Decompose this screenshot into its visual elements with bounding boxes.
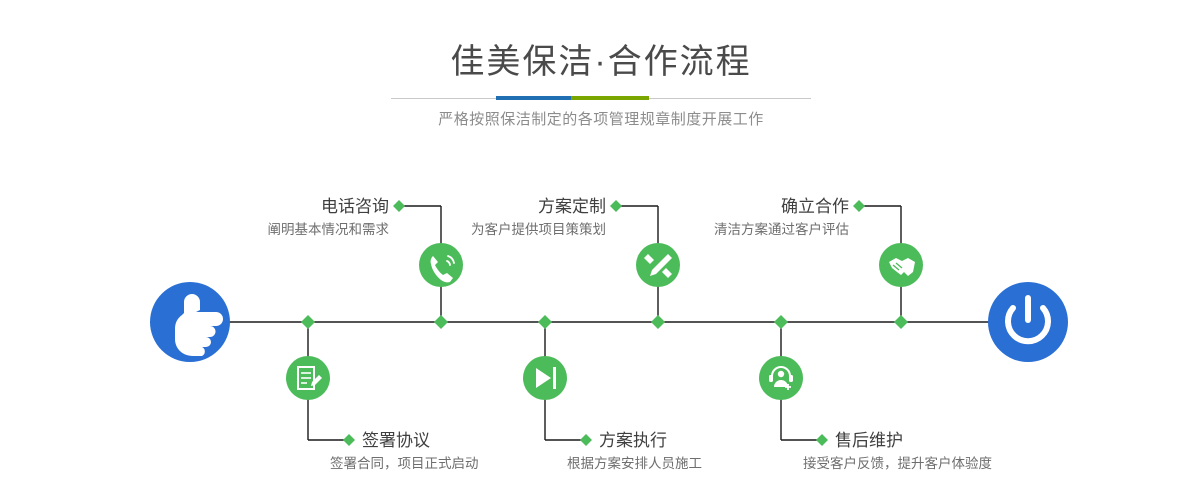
step-desc-2: 签署合同，项目正式启动: [330, 455, 479, 471]
divider-segment-green: [571, 96, 649, 100]
label-step-1: 电话咨询 阐明基本情况和需求: [268, 197, 390, 237]
node-step-6[interactable]: [759, 356, 803, 400]
step-title-3: 方案定制: [538, 197, 606, 216]
diamond-marker-step-5: [894, 315, 908, 329]
step-title-2: 签署协议: [362, 431, 430, 450]
start-endpoint[interactable]: [150, 282, 230, 362]
node-circle-step-1: [419, 243, 463, 287]
step-title-1: 电话咨询: [321, 197, 389, 216]
node-step-3[interactable]: [636, 243, 680, 287]
label-diamond-step-3: [610, 200, 622, 212]
divider-segment-blue: [496, 96, 571, 100]
label-diamond-step-5: [853, 200, 865, 212]
node-step-1[interactable]: [419, 243, 463, 287]
node-step-2[interactable]: [286, 356, 330, 400]
step-desc-1: 阐明基本情况和需求: [268, 221, 390, 237]
node-step-5[interactable]: [879, 243, 923, 287]
step-desc-3: 为客户提供项目策策划: [471, 221, 606, 237]
title-divider: [391, 96, 811, 100]
step-desc-6: 接受客户反馈，提升客户体验度: [803, 455, 992, 471]
label-step-3: 方案定制 为客户提供项目策策划: [471, 197, 606, 237]
label-diamond-step-2: [343, 434, 355, 446]
label-step-6: 售后维护 接受客户反馈，提升客户体验度: [803, 431, 992, 471]
flow-diagram-page: 佳美保洁·合作流程 严格按照保洁制定的各项管理规章制度开展工作: [0, 0, 1202, 502]
label-diamond-step-4: [580, 434, 592, 446]
end-endpoint[interactable]: [988, 282, 1068, 362]
node-step-4[interactable]: [523, 356, 567, 400]
label-step-2: 签署协议 签署合同，项目正式启动: [330, 431, 479, 471]
step-title-4: 方案执行: [599, 431, 667, 450]
diamond-marker-step-2: [301, 315, 315, 329]
node-circle-step-6: [759, 356, 803, 400]
step-desc-5: 清洁方案通过客户评估: [714, 221, 849, 237]
label-step-5: 确立合作 清洁方案通过客户评估: [714, 197, 849, 237]
page-header: 佳美保洁·合作流程 严格按照保洁制定的各项管理规章制度开展工作: [0, 0, 1202, 130]
process-timeline: 电话咨询 阐明基本情况和需求 方案定制 为客户提供项目策策划 确立合作 清洁方案…: [0, 150, 1202, 500]
step-title-5: 确立合作: [781, 197, 849, 216]
label-diamond-step-1: [393, 200, 405, 212]
diamond-marker-step-1: [434, 315, 448, 329]
label-diamond-step-6: [816, 434, 828, 446]
diamond-marker-step-3: [651, 315, 665, 329]
diamond-marker-step-4: [538, 315, 552, 329]
diamond-marker-step-6: [774, 315, 788, 329]
page-subtitle: 严格按照保洁制定的各项管理规章制度开展工作: [0, 110, 1202, 130]
step-desc-4: 根据方案安排人员施工: [567, 455, 702, 471]
page-title: 佳美保洁·合作流程: [0, 0, 1202, 82]
step-title-6: 售后维护: [835, 431, 903, 450]
